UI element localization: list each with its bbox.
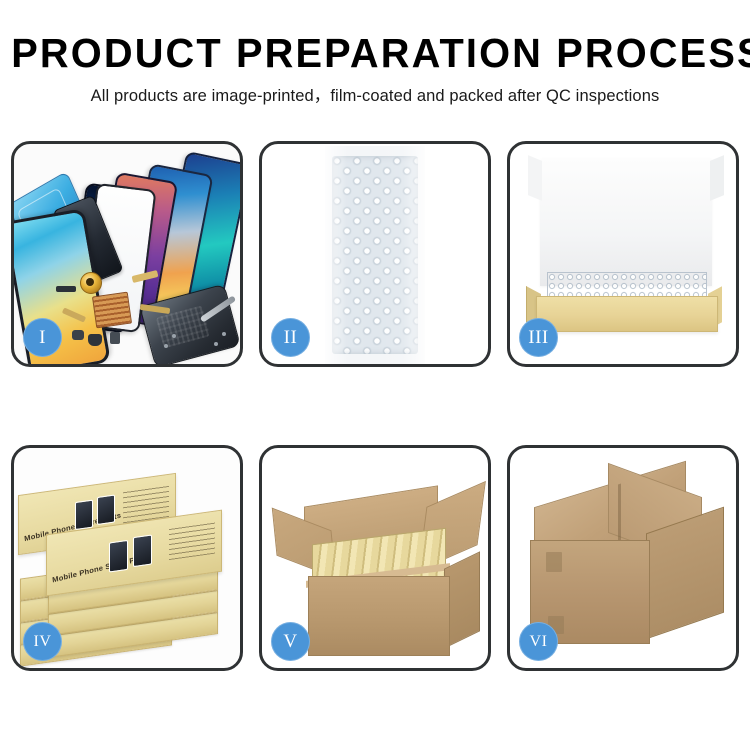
page-subtitle: All products are image-printed，film-coat… — [0, 85, 750, 107]
screen-thumbnail-icon — [133, 534, 152, 567]
copper-coil-icon — [80, 272, 102, 294]
step-number-badge-4: IV — [23, 622, 62, 661]
step-number-badge-2: II — [271, 318, 310, 357]
screw-icon — [214, 342, 218, 346]
screw-icon — [172, 334, 176, 338]
mailer-box-front-face-icon — [536, 296, 718, 332]
step-number-badge-1: I — [23, 318, 62, 357]
page-title: PRODUCT PREPARATION PROCESS — [11, 30, 739, 76]
process-step-1: I — [11, 141, 243, 367]
screw-icon — [164, 344, 168, 348]
carton-seam-icon — [618, 484, 621, 547]
screen-thumbnail-icon — [109, 540, 128, 573]
step-number-badge-5: V — [271, 622, 310, 661]
process-step-2: II — [259, 141, 491, 367]
spec-lines-icon — [169, 520, 215, 560]
step-number-badge-6: VI — [519, 622, 558, 661]
chip-component-icon — [88, 334, 102, 346]
carton-tape-icon — [546, 552, 562, 572]
screw-icon — [222, 332, 226, 336]
chip-component-icon — [110, 332, 120, 344]
carton-front-face-icon — [308, 576, 450, 656]
process-step-3: III — [507, 141, 739, 367]
process-step-6: VI — [507, 445, 739, 671]
process-step-5: V — [259, 445, 491, 671]
chip-component-icon — [72, 330, 84, 340]
header: PRODUCT PREPARATION PROCESS All products… — [0, 0, 750, 107]
screen-thumbnail-icon — [97, 494, 115, 525]
process-step-4: Mobile Phone Spare Parts Mobile Phone Sp… — [11, 445, 243, 671]
copper-mesh-icon — [92, 292, 132, 329]
step-number-badge-3: III — [519, 318, 558, 357]
plastic-sheen-overlay-icon — [325, 144, 425, 364]
mailer-box-lid-icon — [540, 158, 712, 286]
product-preparation-infographic: PRODUCT PREPARATION PROCESS All products… — [0, 0, 750, 750]
chip-component-icon — [56, 286, 76, 292]
process-steps-grid: I II III — [11, 141, 739, 741]
screen-thumbnail-icon — [75, 500, 93, 531]
